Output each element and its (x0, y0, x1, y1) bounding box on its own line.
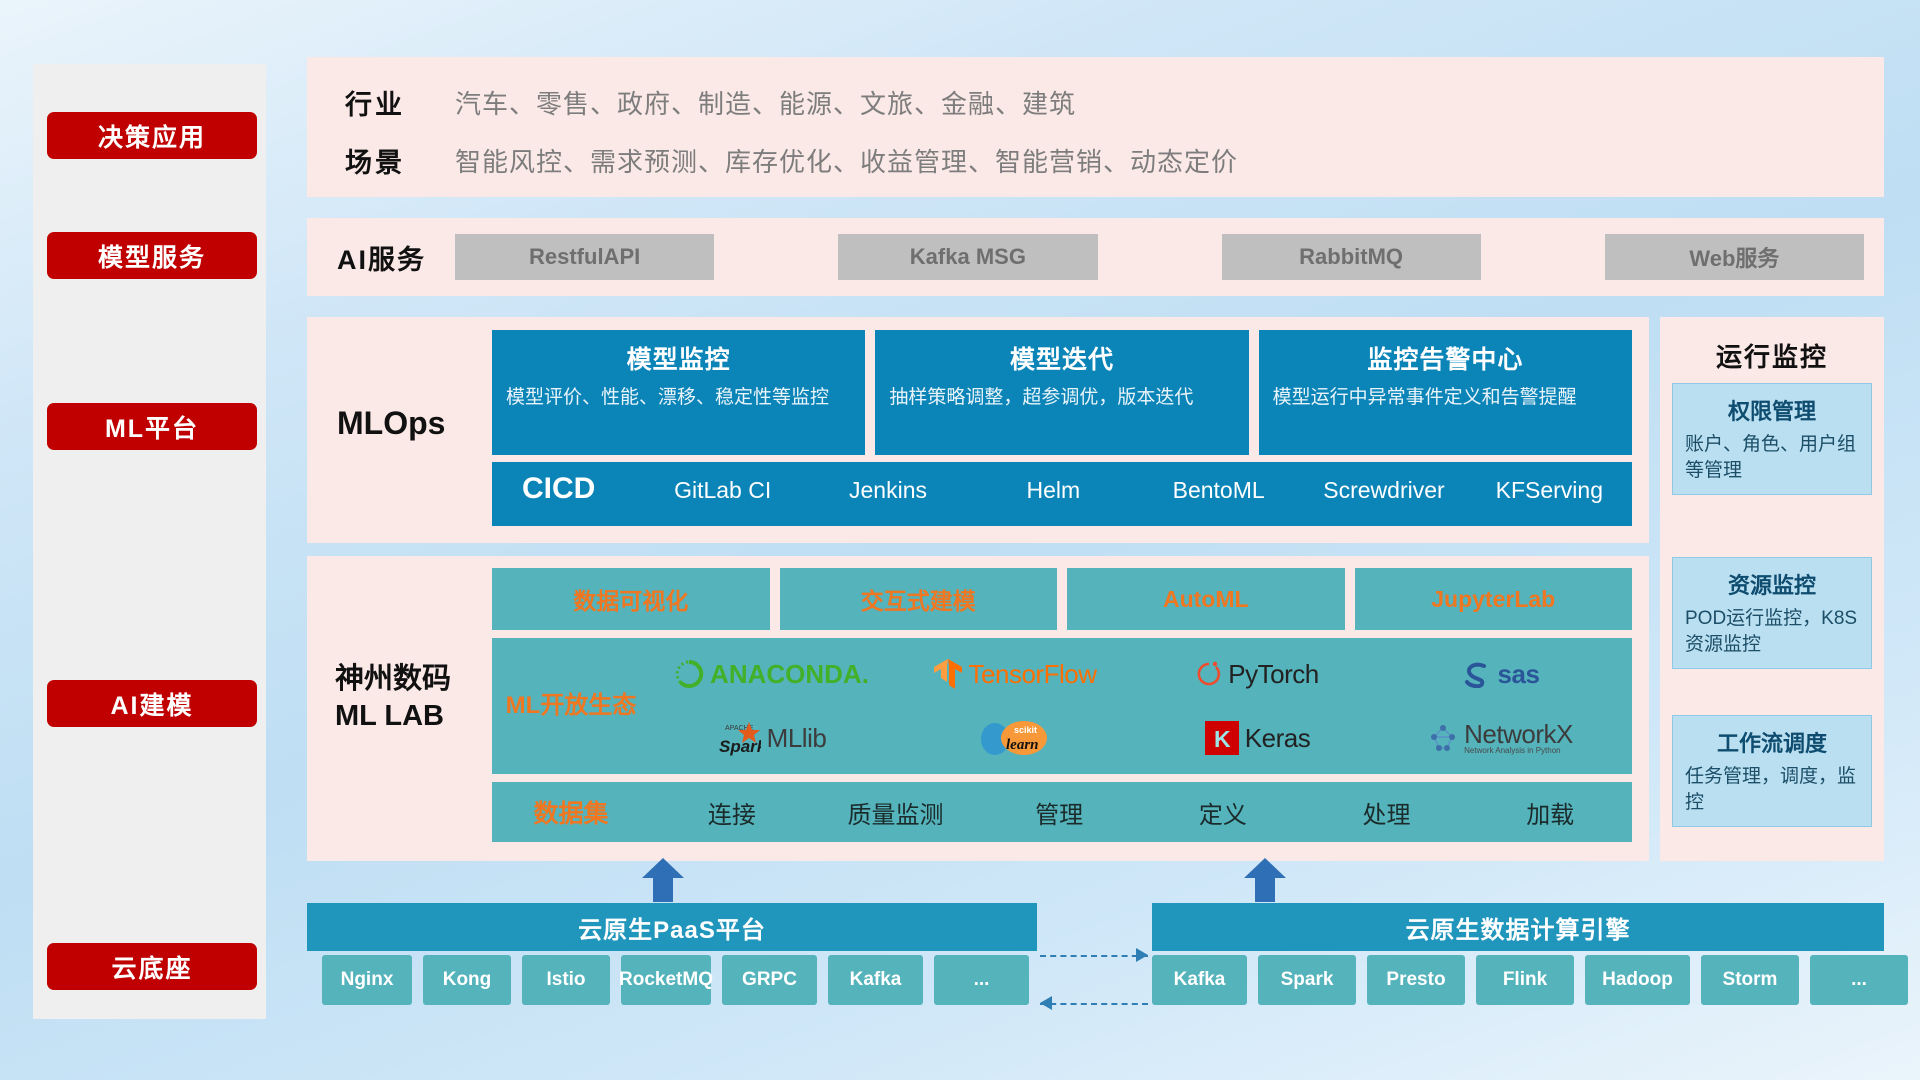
anaconda-icon (674, 659, 704, 689)
card-desc: 任务管理，调度，监控 (1673, 764, 1871, 826)
ml-lab-label-line2: ML LAB (335, 698, 451, 735)
paas-chip-rocketmq[interactable]: RocketMQ (621, 955, 711, 1005)
dataset-item-manage[interactable]: 管理 (977, 795, 1141, 830)
engine-chip-hadoop[interactable]: Hadoop (1585, 955, 1690, 1005)
monitoring-column: 运行监控 权限管理 账户、角色、用户组等管理 资源监控 POD运行监控，K8S资… (1660, 317, 1884, 861)
svg-text:Spark: Spark (719, 737, 761, 756)
ai-service-band: AI服务 RestfulAPI Kafka MSG RabbitMQ Web服务 (307, 218, 1884, 296)
engine-chip-kafka[interactable]: Kafka (1152, 955, 1247, 1005)
sas-logo: sas (1462, 659, 1540, 690)
engine-chip-flink[interactable]: Flink (1476, 955, 1574, 1005)
paas-chip-nginx[interactable]: Nginx (322, 955, 412, 1005)
scenario-value: 智能风控、需求预测、库存优化、收益管理、智能营销、动态定价 (455, 142, 1238, 179)
ml-open-ecosystem-row: ML开放生态 ANACONDA. TensorFlow (492, 638, 1632, 774)
tensorflow-wordmark: TensorFlow (969, 659, 1097, 690)
networkx-tagline: Network Analysis in Python (1464, 747, 1573, 755)
pytorch-logo: PyTorch (1196, 659, 1318, 690)
ai-service-chip-kafka-msg[interactable]: Kafka MSG (838, 234, 1097, 280)
anaconda-wordmark: ANACONDA. (710, 659, 869, 690)
cicd-items: GitLab CI Jenkins Helm BentoML Screwdriv… (640, 462, 1632, 506)
engine-chip-more[interactable]: ... (1810, 955, 1908, 1005)
paas-chip-kong[interactable]: Kong (423, 955, 511, 1005)
industry-key: 行业 (345, 83, 455, 122)
dashed-connector-left (1040, 1003, 1148, 1005)
svg-text:learn: learn (1006, 737, 1039, 753)
industry-row: 行业 汽车、零售、政府、制造、能源、文旅、金融、建筑 (345, 83, 1076, 122)
scikit-learn-logo: scikit learn (978, 719, 1052, 757)
dataset-item-quality-monitor[interactable]: 质量监测 (814, 795, 978, 830)
tool-chip-interactive-modeling[interactable]: 交互式建模 (780, 568, 1058, 630)
dataset-items: 连接 质量监测 管理 定义 处理 加载 (650, 795, 1632, 830)
monitoring-card-resource[interactable]: 资源监控 POD运行监控，K8S资源监控 (1672, 557, 1872, 669)
svg-text:scikit: scikit (1014, 725, 1037, 735)
keras-wordmark: Keras (1245, 723, 1310, 754)
dataset-item-load[interactable]: 加载 (1468, 795, 1632, 830)
layer-tag-label: 云底座 (111, 949, 192, 985)
industry-value: 汽车、零售、政府、制造、能源、文旅、金融、建筑 (455, 84, 1076, 121)
tool-chip-jupyterlab[interactable]: JupyterLab (1355, 568, 1633, 630)
card-title: 工作流调度 (1673, 716, 1871, 764)
cicd-item-jenkins[interactable]: Jenkins (805, 462, 970, 506)
ai-modeling-band: 神州数码 ML LAB 数据可视化 交互式建模 AutoML JupyterLa… (307, 556, 1649, 861)
monitoring-card-permission[interactable]: 权限管理 账户、角色、用户组等管理 (1672, 383, 1872, 495)
monitoring-title: 运行监控 (1660, 317, 1884, 374)
scikit-learn-icon: scikit learn (978, 719, 1052, 757)
architecture-diagram: 决策应用 模型服务 ML平台 AI建模 云底座 行业 汽车、零售、政府、制造、能… (0, 0, 1920, 1080)
apache-spark-icon: APACHE Spark (717, 720, 761, 756)
ai-service-chip-web-service[interactable]: Web服务 (1605, 234, 1864, 280)
mllib-wordmark: MLlib (767, 723, 827, 754)
cicd-title: CICD (492, 462, 640, 506)
layer-tag-decision[interactable]: 决策应用 (47, 112, 257, 159)
layer-tag-label: 模型服务 (98, 238, 206, 274)
mlops-card-row: 模型监控 模型评价、性能、漂移、稳定性等监控 模型迭代 抽样策略调整，超参调优，… (492, 330, 1632, 455)
sas-icon (1462, 660, 1492, 688)
dataset-item-define[interactable]: 定义 (1141, 795, 1305, 830)
ml-open-ecosystem-label: ML开放生态 (492, 691, 650, 721)
spark-mllib-logo: APACHE Spark MLlib (717, 720, 827, 756)
engine-chip-storm[interactable]: Storm (1701, 955, 1799, 1005)
ml-lab-label-line1: 神州数码 (335, 661, 451, 698)
mlops-card-alert-center[interactable]: 监控告警中心 模型运行中异常事件定义和告警提醒 (1259, 330, 1632, 455)
ml-platform-band: MLOps 模型监控 模型评价、性能、漂移、稳定性等监控 模型迭代 抽样策略调整… (307, 317, 1649, 543)
card-desc: 账户、角色、用户组等管理 (1673, 432, 1871, 494)
ml-lab-label: 神州数码 ML LAB (335, 661, 451, 735)
scenario-key: 场景 (345, 141, 455, 180)
cicd-item-screwdriver[interactable]: Screwdriver (1301, 462, 1466, 506)
ai-service-chip-rabbitmq[interactable]: RabbitMQ (1222, 234, 1481, 280)
card-desc: 模型运行中异常事件定义和告警提醒 (1273, 385, 1618, 411)
arrow-up-engine-icon (1242, 858, 1288, 902)
card-desc: 抽样策略调整，超参调优，版本迭代 (889, 385, 1234, 411)
paas-chip-grpc[interactable]: GRPC (722, 955, 817, 1005)
svg-text:K: K (1214, 726, 1231, 752)
data-compute-engine-bar[interactable]: 云原生数据计算引擎 (1152, 903, 1884, 951)
ai-service-chip-restfulapi[interactable]: RestfulAPI (455, 234, 714, 280)
layer-tag-cloud-base[interactable]: 云底座 (47, 943, 257, 990)
card-title: 资源监控 (1673, 558, 1871, 606)
tool-chip-row: 数据可视化 交互式建模 AutoML JupyterLab (492, 568, 1632, 630)
monitoring-card-workflow[interactable]: 工作流调度 任务管理，调度，监控 (1672, 715, 1872, 827)
pytorch-icon (1196, 659, 1222, 689)
paas-chip-istio[interactable]: Istio (522, 955, 610, 1005)
paas-platform-bar[interactable]: 云原生PaaS平台 (307, 903, 1037, 951)
keras-logo: K Keras (1205, 721, 1310, 755)
networkx-icon (1428, 723, 1458, 753)
dashed-connector-right (1040, 955, 1148, 957)
ai-service-label: AI服务 (307, 238, 455, 277)
engine-chip-row: Kafka Spark Presto Flink Hadoop Storm ..… (1152, 955, 1908, 1005)
card-title: 模型迭代 (889, 340, 1234, 376)
paas-chip-kafka[interactable]: Kafka (828, 955, 923, 1005)
mlops-label: MLOps (337, 405, 445, 442)
keras-icon: K (1205, 721, 1239, 755)
pytorch-wordmark: PyTorch (1228, 659, 1318, 690)
tensorflow-logo: TensorFlow (933, 658, 1097, 690)
cicd-item-bentoml[interactable]: BentoML (1136, 462, 1301, 506)
engine-chip-spark[interactable]: Spark (1258, 955, 1356, 1005)
card-title: 模型监控 (506, 340, 851, 376)
layer-tag-ai-modeling[interactable]: AI建模 (47, 680, 257, 727)
layer-tag-label: AI建模 (110, 686, 193, 722)
networkx-wordmark: NetworkX (1464, 721, 1573, 747)
anaconda-logo: ANACONDA. (674, 659, 869, 690)
layer-rail (33, 64, 266, 1019)
paas-chip-more[interactable]: ... (934, 955, 1029, 1005)
layer-tag-label: 决策应用 (98, 118, 206, 154)
scenario-row: 场景 智能风控、需求预测、库存优化、收益管理、智能营销、动态定价 (345, 141, 1238, 180)
tool-chip-automl[interactable]: AutoML (1067, 568, 1345, 630)
dashed-arrow-head-left-icon (1040, 996, 1052, 1010)
layer-tag-model-service[interactable]: 模型服务 (47, 232, 257, 279)
mlops-card-model-iteration[interactable]: 模型迭代 抽样策略调整，超参调优，版本迭代 (875, 330, 1248, 455)
mlops-card-model-monitoring[interactable]: 模型监控 模型评价、性能、漂移、稳定性等监控 (492, 330, 865, 455)
logo-grid: ANACONDA. TensorFlow PyTorch (650, 638, 1632, 774)
layer-tag-label: ML平台 (105, 409, 199, 445)
card-title: 监控告警中心 (1273, 340, 1618, 376)
decision-application-band: 行业 汽车、零售、政府、制造、能源、文旅、金融、建筑 场景 智能风控、需求预测、… (307, 57, 1884, 197)
engine-chip-presto[interactable]: Presto (1367, 955, 1465, 1005)
layer-tag-ml-platform[interactable]: ML平台 (47, 403, 257, 450)
dataset-item-process[interactable]: 处理 (1305, 795, 1469, 830)
cicd-item-gitlab-ci[interactable]: GitLab CI (640, 462, 805, 506)
card-title: 权限管理 (1673, 384, 1871, 432)
tensorflow-icon (933, 658, 963, 690)
cicd-item-kfserving[interactable]: KFServing (1467, 462, 1632, 506)
card-desc: 模型评价、性能、漂移、稳定性等监控 (506, 385, 851, 411)
card-desc: POD运行监控，K8S资源监控 (1673, 606, 1871, 668)
dataset-title: 数据集 (492, 794, 650, 830)
ai-service-items: RestfulAPI Kafka MSG RabbitMQ Web服务 (455, 234, 1884, 280)
networkx-logo: NetworkX Network Analysis in Python (1428, 721, 1573, 755)
paas-chip-row: Nginx Kong Istio RocketMQ GRPC Kafka ... (322, 955, 1029, 1005)
dataset-row: 数据集 连接 质量监测 管理 定义 处理 加载 (492, 782, 1632, 842)
dashed-arrow-head-right-icon (1136, 948, 1148, 962)
sas-wordmark: sas (1498, 659, 1540, 690)
cicd-row: CICD GitLab CI Jenkins Helm BentoML Scre… (492, 462, 1632, 526)
cicd-item-helm[interactable]: Helm (971, 462, 1136, 506)
tool-chip-data-visualization[interactable]: 数据可视化 (492, 568, 770, 630)
dataset-item-connect[interactable]: 连接 (650, 795, 814, 830)
arrow-up-paas-icon (640, 858, 686, 902)
